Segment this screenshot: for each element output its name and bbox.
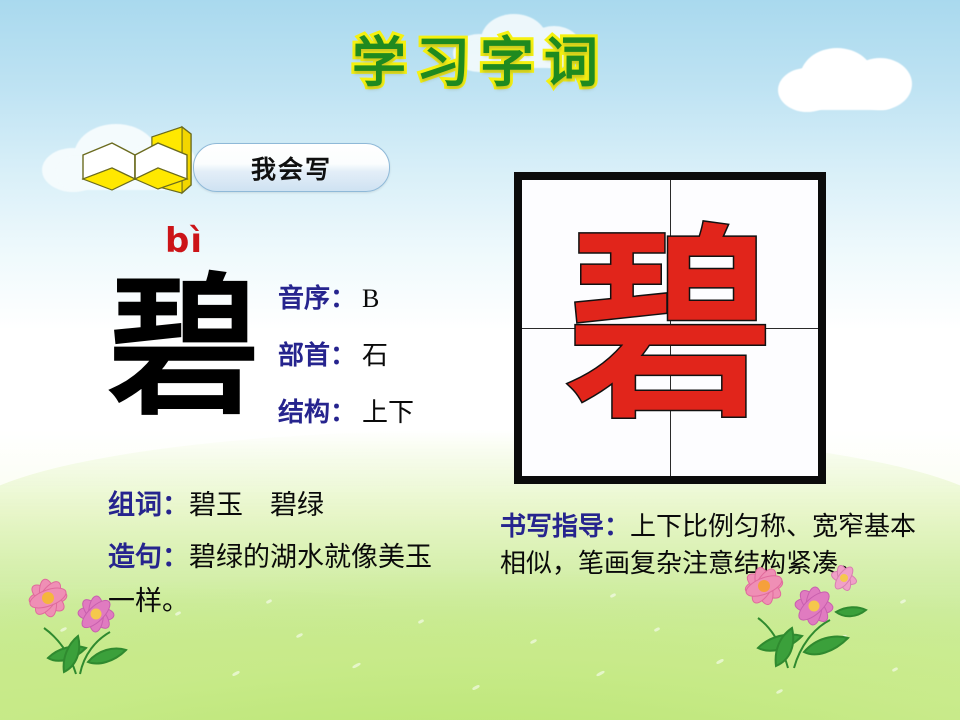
meta-separator: ： (330, 392, 356, 429)
practice-character-glyph: 碧 (522, 226, 818, 431)
meta-label: 部首 (278, 335, 330, 372)
meta-label: 结构 (278, 392, 330, 429)
page-title: 学习字词 (0, 18, 960, 88)
meta-label: 音序 (278, 278, 330, 315)
main-character-glyph: 碧 (108, 272, 260, 424)
writing-guidance-line: 书写指导：上下比例匀称、宽窄基本相似，笔画复杂注意结构紧凑。 (500, 508, 930, 582)
word-formation-line: 组词：碧玉 碧绿 (108, 483, 468, 522)
meta-value: 上下 (362, 392, 414, 429)
meta-value: B (362, 284, 379, 314)
sentence-label: 造句： (108, 542, 189, 572)
meta-row-phonetic-order: 音序 ： B (278, 278, 458, 315)
practice-grid-box: 碧 (514, 172, 826, 484)
character-metadata: 音序 ： B 部首 ： 石 结构 ： 上下 (278, 278, 458, 449)
slide-canvas: 学习字词 我会写 bì 碧 音序 ： B 部首 ： 石 (0, 0, 960, 720)
page-title-text: 学习字词 (352, 31, 608, 94)
section-label-text: 我会写 (251, 150, 332, 186)
word-formation-label: 组词： (108, 490, 189, 520)
word-formation-value: 碧玉 碧绿 (189, 490, 324, 520)
meta-value: 石 (362, 335, 388, 372)
meta-separator: ： (330, 335, 356, 372)
meta-row-radical: 部首 ： 石 (278, 335, 458, 372)
open-book-icon (78, 119, 196, 199)
pinyin-text: bì (165, 221, 203, 261)
sentence-line: 造句：碧绿的湖水就像美玉一样。 (108, 535, 453, 623)
writing-guidance-label: 书写指导： (500, 512, 630, 541)
meta-row-structure: 结构 ： 上下 (278, 392, 458, 429)
section-label-pill[interactable]: 我会写 (193, 143, 390, 192)
meta-separator: ： (330, 278, 356, 315)
